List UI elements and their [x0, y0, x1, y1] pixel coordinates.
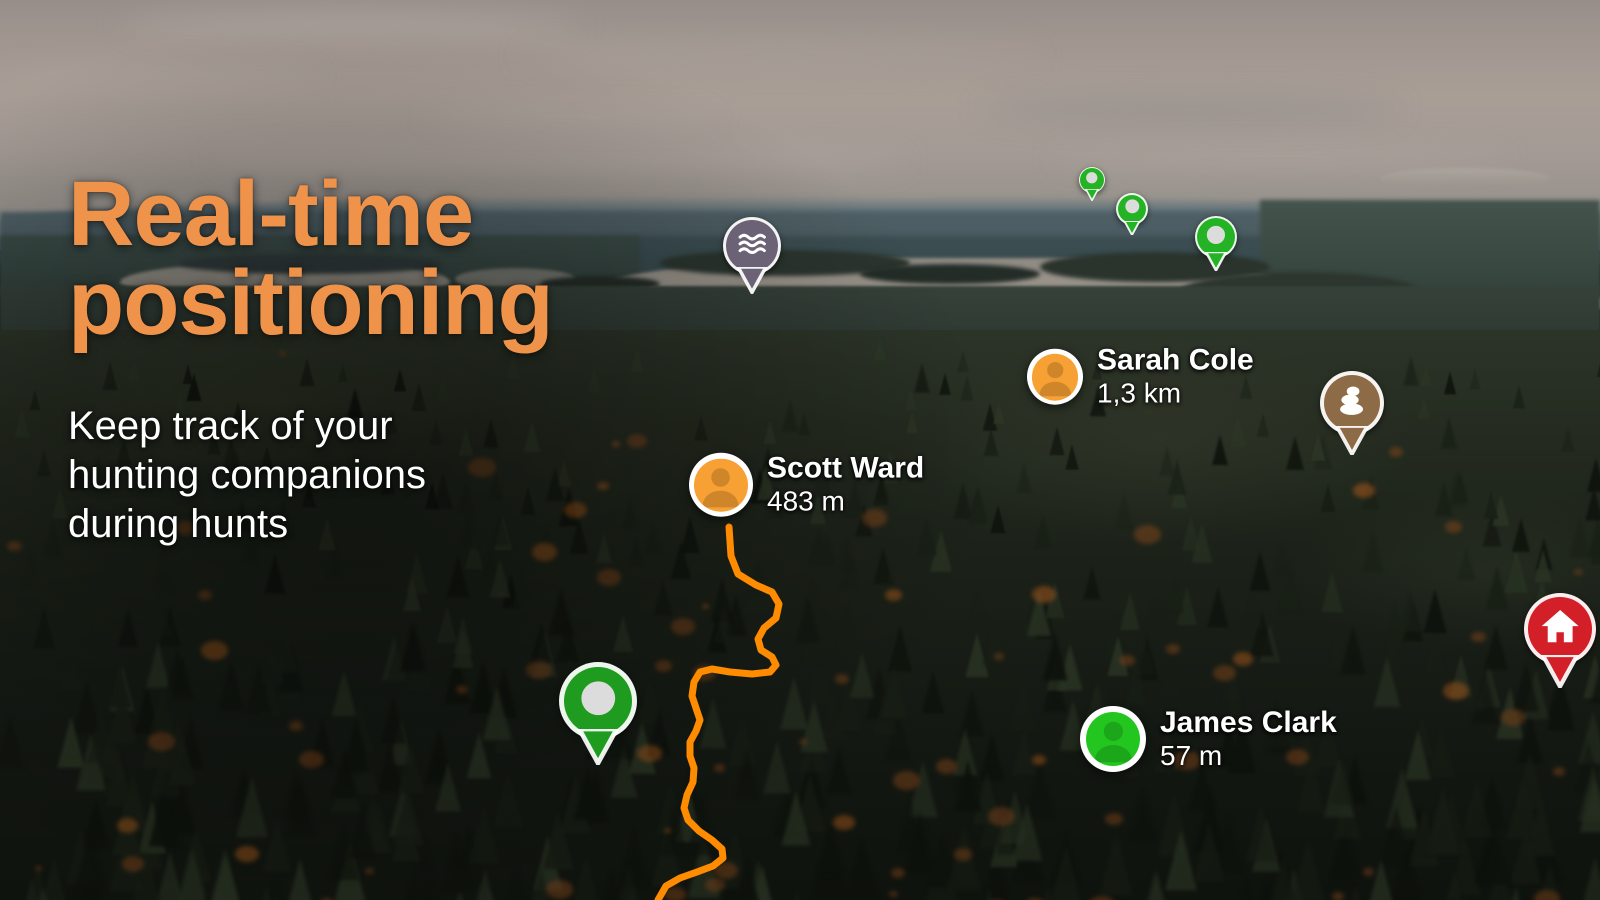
person-icon [1032, 354, 1078, 400]
circle-ring-icon [1124, 198, 1141, 220]
person-icon [694, 458, 747, 511]
person-label: Sarah Cole1,3 km [1097, 345, 1254, 410]
pin-tail [723, 267, 781, 294]
person-label: Scott Ward483 m [767, 453, 924, 518]
avatar[interactable] [1027, 349, 1083, 405]
droppings-icon [1333, 382, 1370, 424]
pin-tail [1320, 426, 1384, 455]
person-distance: 57 m [1160, 741, 1337, 771]
avatar[interactable] [1080, 706, 1146, 772]
pin-tail [1116, 221, 1148, 236]
circle-ring-icon [1085, 171, 1099, 190]
circle-ring-icon [578, 678, 619, 724]
person-distance: 483 m [767, 487, 924, 517]
water-pin[interactable] [723, 217, 781, 275]
pin-tail [1079, 189, 1105, 201]
person-icon [1086, 712, 1141, 767]
person-marker-sarah-cole[interactable]: Sarah Cole1,3 km [1027, 345, 1254, 410]
water-waves-icon [736, 227, 768, 264]
person-name: Scott Ward [767, 453, 924, 485]
map-markers: Scott Ward483 mSarah Cole1,3 kmJames Cla… [0, 0, 1600, 900]
person-name: James Clark [1160, 707, 1337, 739]
home-icon [1540, 606, 1580, 651]
pin-tail [559, 729, 637, 765]
avatar[interactable] [689, 453, 753, 517]
waypoint-pin-large[interactable] [559, 662, 637, 740]
droppings-pin[interactable] [1320, 371, 1384, 435]
app-screen: Real-time positioning Keep track of your… [0, 0, 1600, 900]
waypoint-pin-lake-a[interactable] [1079, 167, 1105, 193]
person-name: Sarah Cole [1097, 345, 1254, 377]
circle-ring-icon [1205, 224, 1227, 251]
person-distance: 1,3 km [1097, 379, 1254, 409]
waypoint-pin-lake-c[interactable] [1195, 216, 1237, 258]
pin-tail [1524, 655, 1596, 688]
pin-tail [1195, 252, 1237, 271]
avatar-fill [1086, 712, 1141, 767]
waypoint-pin-lake-b[interactable] [1116, 193, 1148, 225]
person-marker-scott-ward[interactable]: Scott Ward483 m [689, 453, 924, 518]
avatar-fill [1032, 354, 1078, 400]
person-label: James Clark57 m [1160, 707, 1337, 772]
person-marker-james-clark[interactable]: James Clark57 m [1080, 706, 1337, 772]
home-pin[interactable] [1524, 593, 1596, 665]
avatar-fill [694, 458, 747, 511]
